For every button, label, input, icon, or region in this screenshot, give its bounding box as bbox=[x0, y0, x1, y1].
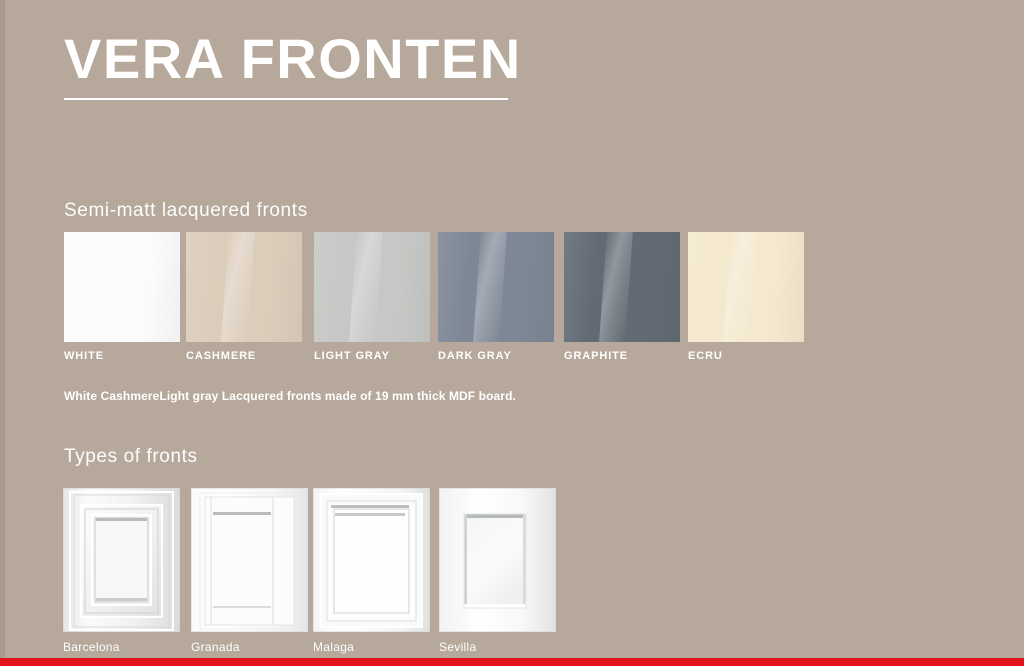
front-type-label: Sevilla bbox=[439, 640, 476, 654]
title-underline-rule bbox=[64, 98, 508, 100]
gloss-overlay bbox=[314, 232, 430, 342]
door-front-illustration bbox=[191, 488, 308, 632]
front-sample-granada[interactable] bbox=[191, 488, 308, 632]
brochure-page: VERA FRONTEN Semi-matt lacquered fronts … bbox=[0, 0, 1024, 666]
gloss-streak bbox=[599, 232, 633, 342]
gloss-overlay bbox=[688, 232, 804, 342]
gloss-streak bbox=[99, 232, 133, 342]
front-sample-malaga[interactable] bbox=[313, 488, 430, 632]
color-swatch-label: DARK GRAY bbox=[438, 350, 512, 362]
page-title-block: VERA FRONTEN bbox=[64, 28, 524, 100]
color-swatch-label: WHITE bbox=[64, 350, 104, 362]
color-swatch-label: CASHMERE bbox=[186, 350, 256, 362]
color-swatch-cashmere[interactable] bbox=[186, 232, 302, 342]
bottom-accent-bar bbox=[0, 658, 1024, 666]
gloss-overlay bbox=[564, 232, 680, 342]
gloss-overlay bbox=[186, 232, 302, 342]
color-swatch-label: ECRU bbox=[688, 350, 723, 362]
section-heading-types: Types of fronts bbox=[64, 446, 198, 468]
color-swatch-ecru[interactable] bbox=[688, 232, 804, 342]
page-title: VERA FRONTEN bbox=[64, 28, 524, 90]
front-sample-barcelona[interactable] bbox=[63, 488, 180, 632]
section-heading-lacquered: Semi-matt lacquered fronts bbox=[64, 200, 308, 222]
front-types-row: Barcelona bbox=[63, 488, 963, 658]
color-swatch-row: WHITE CASHMERE LIGHT GRAY DARK GRAY GRAP… bbox=[64, 232, 964, 362]
front-type-label: Malaga bbox=[313, 640, 354, 654]
left-edge-strip bbox=[0, 0, 5, 666]
door-front-illustration bbox=[439, 488, 556, 632]
color-swatch-label: GRAPHITE bbox=[564, 350, 628, 362]
door-front-illustration bbox=[63, 488, 180, 632]
color-swatch-light-gray[interactable] bbox=[314, 232, 430, 342]
front-sample-sevilla[interactable] bbox=[439, 488, 556, 632]
gloss-streak bbox=[221, 232, 255, 342]
lacquered-caption: White CashmereLight gray Lacquered front… bbox=[64, 389, 516, 403]
front-type-label: Barcelona bbox=[63, 640, 120, 654]
color-swatch-graphite[interactable] bbox=[564, 232, 680, 342]
color-swatch-label: LIGHT GRAY bbox=[314, 350, 390, 362]
gloss-overlay bbox=[64, 232, 180, 342]
color-swatch-dark-gray[interactable] bbox=[438, 232, 554, 342]
gloss-streak bbox=[723, 232, 757, 342]
gloss-streak bbox=[349, 232, 383, 342]
front-type-label: Granada bbox=[191, 640, 240, 654]
gloss-streak bbox=[473, 232, 507, 342]
door-front-illustration bbox=[313, 488, 430, 632]
gloss-overlay bbox=[438, 232, 554, 342]
color-swatch-white[interactable] bbox=[64, 232, 180, 342]
